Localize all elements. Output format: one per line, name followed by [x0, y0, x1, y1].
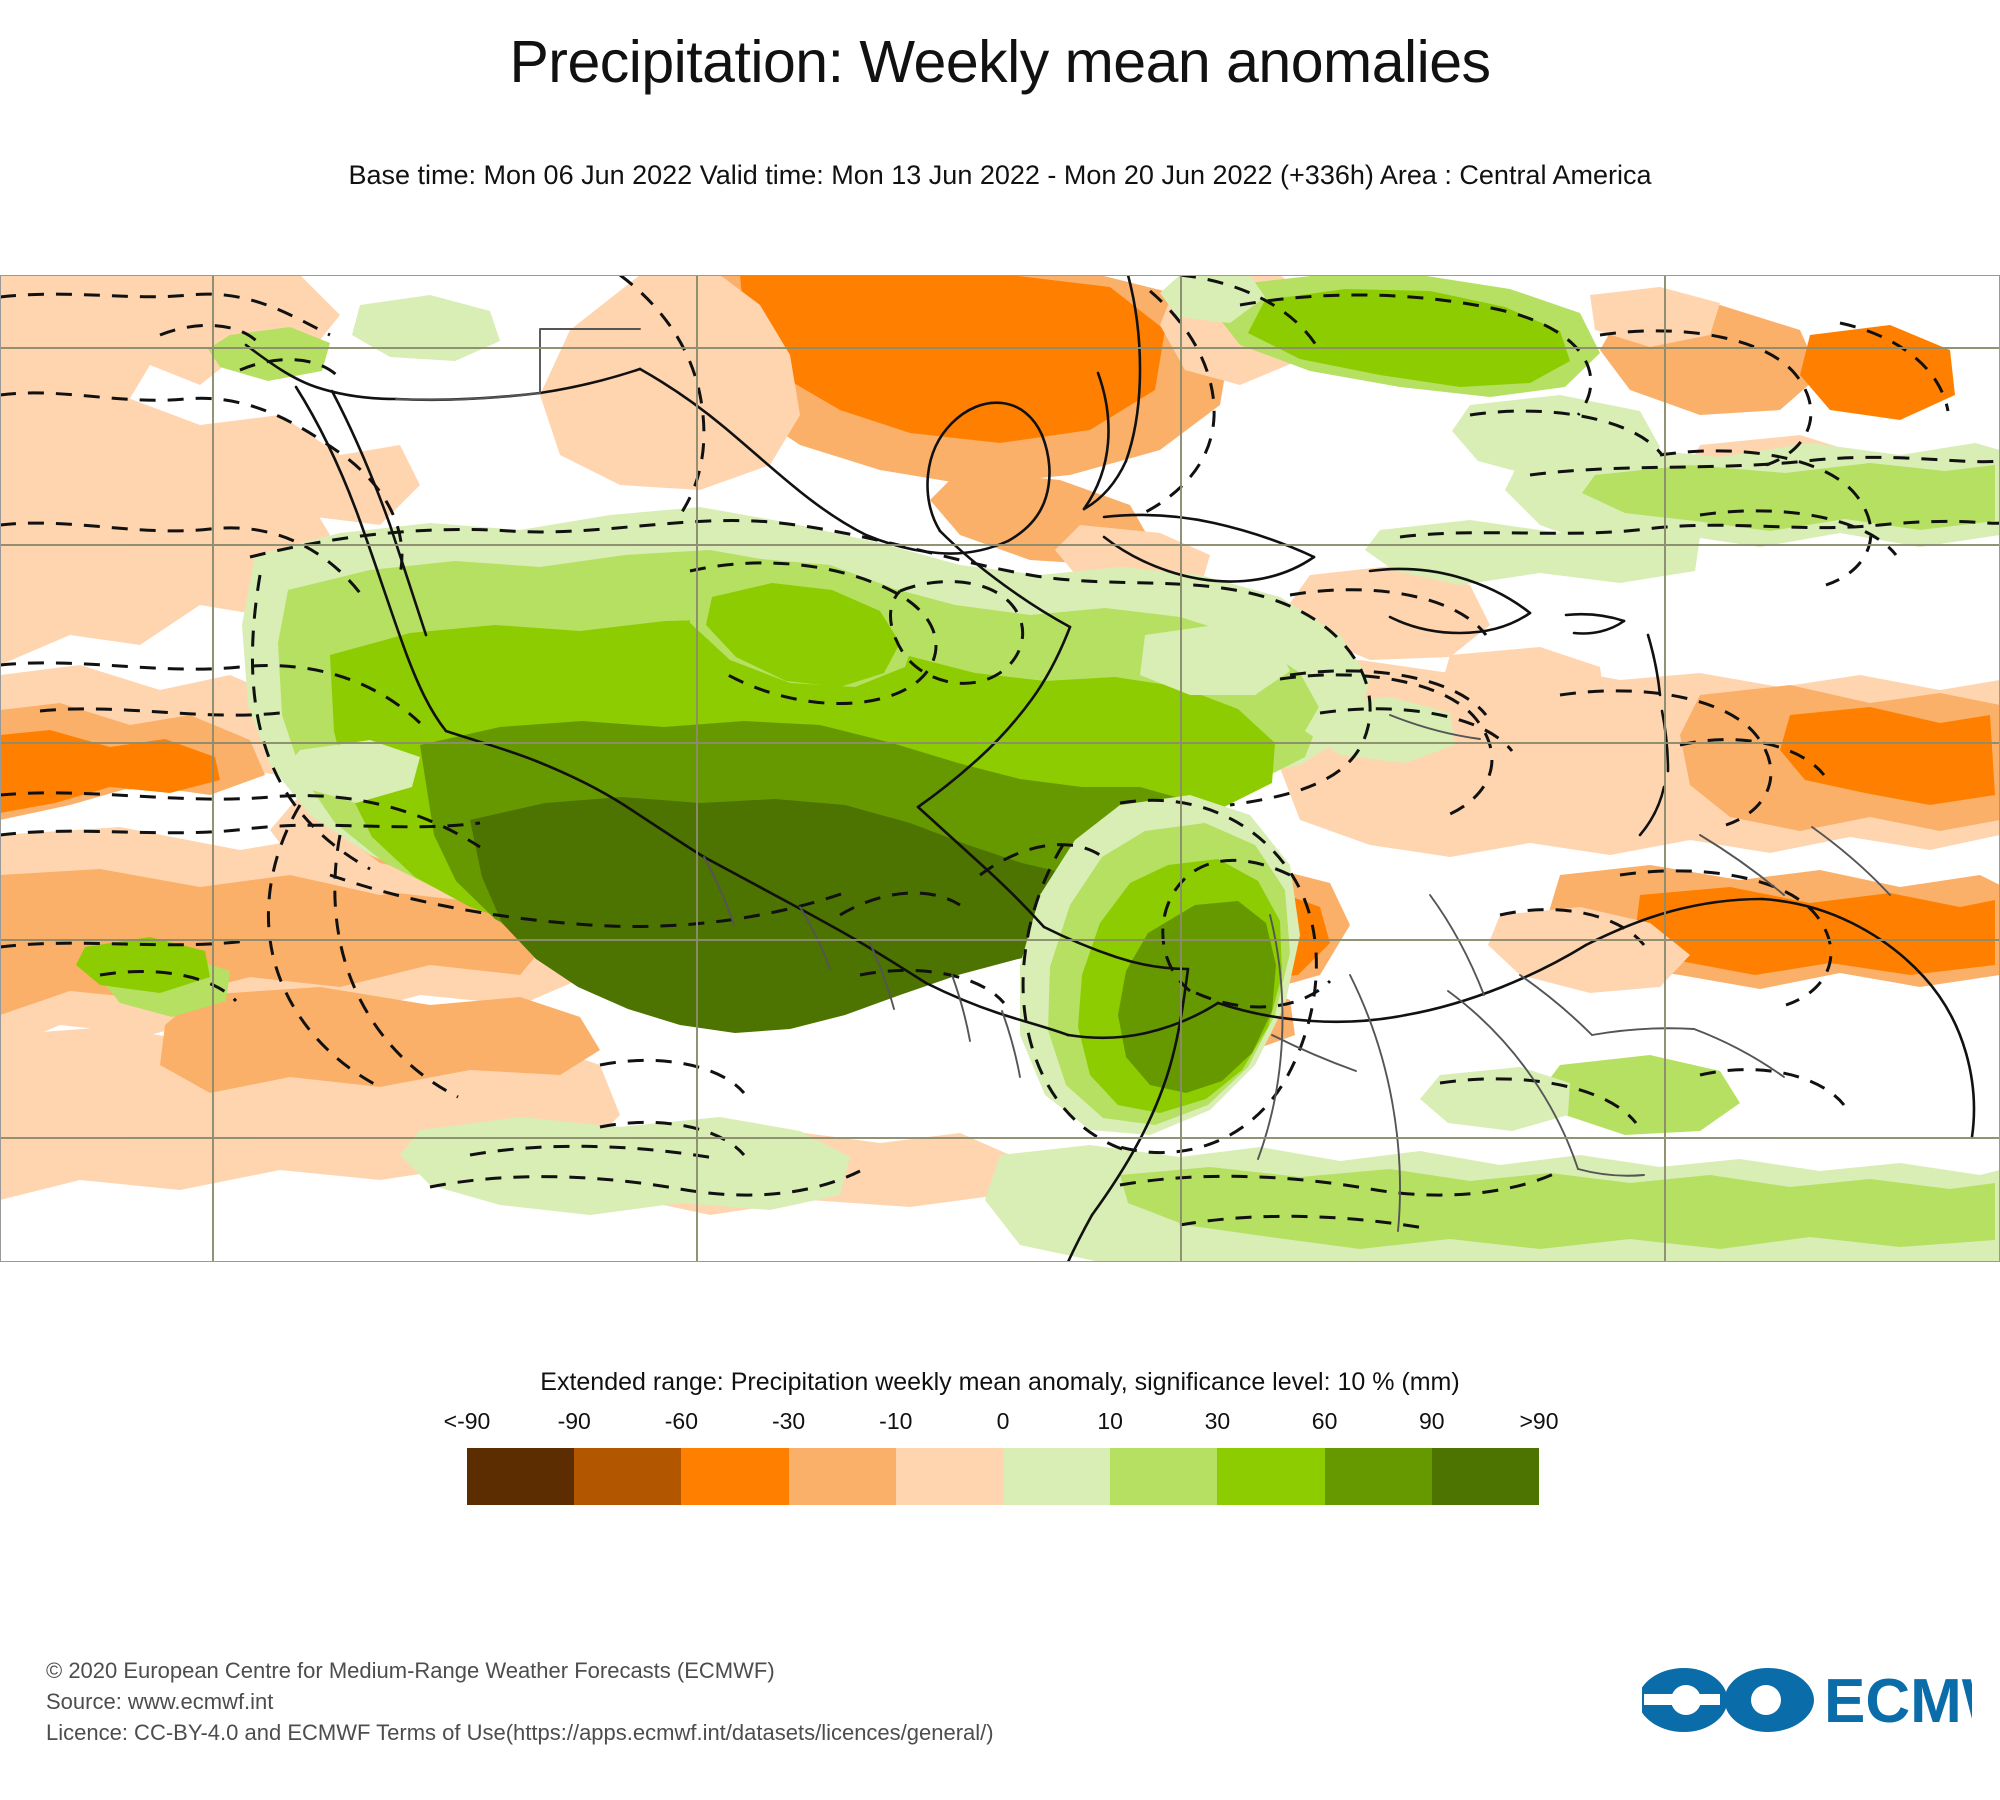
colorbar-swatch-7[interactable]	[1217, 1448, 1324, 1505]
colorbar-tick-0: <-90	[444, 1408, 491, 1435]
footer-licence: Licence: CC-BY-4.0 and ECMWF Terms of Us…	[46, 1717, 994, 1748]
ecmwf-logo-mark: ECMWF	[1642, 1660, 1972, 1740]
colorbar-swatch-6[interactable]	[1110, 1448, 1217, 1505]
colorbar-swatch-9[interactable]	[1432, 1448, 1539, 1505]
colorbar-tick-2: -60	[665, 1408, 698, 1435]
colorbar-swatch-0[interactable]	[467, 1448, 574, 1505]
ecmwf-logo: ECMWF	[1642, 1657, 1972, 1743]
colorbar-swatch-3[interactable]	[789, 1448, 896, 1505]
colorbar-tick-labels: <-90-90-60-30-10010306090>90	[467, 1408, 1539, 1444]
colorbar-caption: Extended range: Precipitation weekly mea…	[0, 1368, 2000, 1397]
colorbar-swatch-8[interactable]	[1325, 1448, 1432, 1505]
colorbar-tick-10: >90	[1519, 1408, 1558, 1435]
colorbar-swatch-2[interactable]	[681, 1448, 788, 1505]
colorbar-tick-3: -30	[772, 1408, 805, 1435]
colorbar[interactable]: <-90-90-60-30-10010306090>90	[467, 1408, 1539, 1498]
anomaly-map[interactable]	[0, 275, 2000, 1262]
colorbar-swatch-5[interactable]	[1003, 1448, 1110, 1505]
colorbar-swatch-1[interactable]	[574, 1448, 681, 1505]
page-title: Precipitation: Weekly mean anomalies	[0, 28, 2000, 96]
colorbar-tick-1: -90	[558, 1408, 591, 1435]
colorbar-tick-8: 60	[1312, 1408, 1338, 1435]
footer-copyright: © 2020 European Centre for Medium-Range …	[46, 1655, 994, 1686]
footer-source: Source: www.ecmwf.int	[46, 1686, 994, 1717]
map-panel[interactable]	[0, 275, 2000, 1262]
colorbar-swatch-4[interactable]	[896, 1448, 1003, 1505]
colorbar-tick-5: 0	[997, 1408, 1010, 1435]
colorbar-tick-4: -10	[879, 1408, 912, 1435]
ecmwf-logo-text: ECMWF	[1824, 1667, 1972, 1736]
colorbar-tick-7: 30	[1205, 1408, 1231, 1435]
colorbar-tick-6: 10	[1097, 1408, 1123, 1435]
colorbar-tick-9: 90	[1419, 1408, 1445, 1435]
page-subtitle: Base time: Mon 06 Jun 2022 Valid time: M…	[0, 160, 2000, 191]
footer: © 2020 European Centre for Medium-Range …	[46, 1655, 994, 1749]
colorbar-swatches[interactable]	[467, 1448, 1539, 1505]
